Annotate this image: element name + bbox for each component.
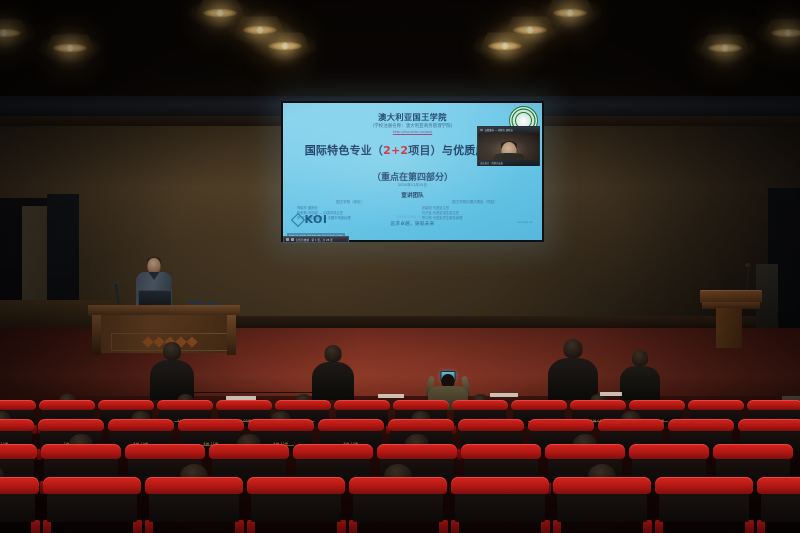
front-row-attendee bbox=[620, 366, 660, 400]
headline-part-1: 国际特色专业（ bbox=[305, 144, 383, 157]
light-core bbox=[0, 29, 9, 38]
previous-slide-icon[interactable] bbox=[286, 238, 289, 241]
front-row-attendee bbox=[548, 358, 598, 400]
seat-headrest bbox=[629, 400, 685, 410]
seat-armrest-right bbox=[235, 520, 243, 533]
slide-team-heading: 宣讲团队 bbox=[283, 191, 542, 199]
seat-headrest bbox=[0, 400, 36, 410]
seat-headrest bbox=[145, 477, 242, 495]
light-core bbox=[256, 26, 265, 35]
light-core bbox=[721, 44, 730, 53]
remote-speaker-body bbox=[494, 153, 524, 160]
seat-headrest bbox=[655, 477, 752, 495]
webcam-status-bar: 正在发言 · 音频已连接 bbox=[478, 160, 539, 166]
lectern-column bbox=[716, 308, 742, 348]
seat-headrest bbox=[318, 419, 385, 431]
audience-seat[interactable] bbox=[557, 484, 647, 533]
seat-headrest bbox=[668, 419, 735, 431]
team-column-left-heading: 国王学院（悉尼） bbox=[297, 200, 403, 205]
seat-headrest bbox=[629, 444, 709, 459]
seat-headrest bbox=[0, 419, 34, 431]
seat-headrest bbox=[388, 419, 455, 431]
audience-seat[interactable] bbox=[659, 484, 749, 533]
seat-armrest-left bbox=[451, 520, 459, 533]
seat-armrest-left bbox=[655, 520, 663, 533]
koi-logo: KOI bbox=[293, 213, 327, 226]
seat-armrest-right bbox=[337, 520, 345, 533]
seat-headrest bbox=[377, 444, 457, 459]
audience-seat[interactable] bbox=[251, 484, 341, 533]
light-core bbox=[784, 29, 793, 38]
seat-headrest bbox=[688, 400, 744, 410]
slide-org-name: 澳大利亚国王学院 bbox=[283, 111, 542, 123]
slideshow-status-label: 幻灯片放映 · 第 1 张，共 28 张 bbox=[296, 238, 333, 242]
seat-headrest bbox=[43, 477, 140, 495]
seat-armrest-right bbox=[541, 520, 549, 533]
seat-headrest bbox=[125, 444, 205, 459]
seat-headrest bbox=[108, 419, 175, 431]
light-core bbox=[526, 26, 535, 35]
slide-section-note: （重点在第四部分） bbox=[283, 170, 542, 183]
front-row-attendee-head bbox=[325, 345, 342, 362]
diamond-ornament-icon bbox=[142, 336, 153, 347]
desk-papers bbox=[490, 393, 518, 397]
front-row-attendee-head bbox=[632, 350, 648, 366]
seat-armrest-right bbox=[745, 520, 753, 533]
seat-headrest bbox=[713, 444, 793, 459]
diamond-ornament-icon bbox=[186, 336, 197, 347]
seat-armrest-right bbox=[133, 520, 141, 533]
seat-headrest bbox=[39, 400, 95, 410]
seat-headrest bbox=[0, 477, 39, 495]
seat-headrest bbox=[553, 477, 650, 495]
seat-headrest bbox=[293, 444, 373, 459]
webcam-video-feed bbox=[478, 133, 539, 160]
seat-headrest bbox=[248, 419, 315, 431]
seat-headrest bbox=[452, 400, 508, 410]
seat-headrest bbox=[738, 419, 800, 431]
projection-screen: 澳大利亚国王学院 （学校注册名称：澳大利亚商务管理学院） http://koi.… bbox=[281, 101, 544, 242]
audience-seat[interactable] bbox=[0, 484, 35, 533]
seat-headrest bbox=[216, 400, 272, 410]
seat-headrest bbox=[275, 400, 331, 410]
front-row-attendee bbox=[312, 362, 354, 400]
light-core bbox=[281, 42, 290, 51]
light-core bbox=[66, 44, 75, 53]
seat-headrest bbox=[349, 477, 446, 495]
seat-headrest bbox=[545, 444, 625, 459]
presentation-slide: 澳大利亚国王学院 （学校注册名称：澳大利亚商务管理学院） http://koi.… bbox=[283, 103, 542, 240]
diamond-icon bbox=[291, 212, 305, 226]
seat-headrest bbox=[41, 444, 121, 459]
seat-armrest-right bbox=[31, 520, 39, 533]
seat-headrest bbox=[178, 419, 245, 431]
audience-seat[interactable] bbox=[47, 484, 137, 533]
seat-armrest-right bbox=[439, 520, 447, 533]
seat-headrest bbox=[0, 444, 37, 459]
light-core bbox=[216, 9, 225, 18]
team-column-right-heading: 国王学院中国代表处（项目） bbox=[422, 200, 528, 205]
seat-headrest bbox=[747, 400, 800, 410]
slide-date: 2020年12月15日 bbox=[283, 183, 542, 188]
seat-headrest bbox=[528, 419, 595, 431]
lectern bbox=[700, 290, 762, 348]
seat-headrest bbox=[451, 477, 548, 495]
seat-headrest bbox=[38, 419, 105, 431]
seat-armrest-left bbox=[247, 520, 255, 533]
seat-armrest-right bbox=[643, 520, 651, 533]
seat-headrest bbox=[570, 400, 626, 410]
slide-footer-url: koi.edu.au bbox=[517, 220, 533, 225]
webcam-overlay-window[interactable]: 远程嘉宾 — 郑晓东 副院长 正在发言 · 音频已连接 bbox=[477, 126, 540, 166]
desk-leg-left bbox=[92, 315, 101, 355]
seat-headrest bbox=[461, 444, 541, 459]
microphone-icon bbox=[114, 281, 120, 284]
front-row-attendee-head bbox=[564, 339, 583, 358]
koi-logo-text: KOI bbox=[305, 213, 328, 226]
seat-armrest-left bbox=[43, 520, 51, 533]
seat-headrest bbox=[157, 400, 213, 410]
pen-icon[interactable] bbox=[291, 238, 294, 241]
seat-armrest-left bbox=[553, 520, 561, 533]
desk-leg-right bbox=[227, 315, 236, 355]
video-indicator-icon bbox=[480, 129, 483, 132]
auditorium-scene: 澳大利亚国王学院 （学校注册名称：澳大利亚商务管理学院） http://koi.… bbox=[0, 0, 800, 533]
seat-headrest bbox=[209, 444, 289, 459]
seat-headrest bbox=[458, 419, 525, 431]
slideshow-toolbar[interactable]: 幻灯片放映 · 第 1 张，共 28 张 bbox=[283, 236, 349, 243]
seat-headrest bbox=[98, 400, 154, 410]
seat-headrest bbox=[247, 477, 344, 495]
seat-headrest bbox=[757, 477, 800, 495]
seat-headrest bbox=[598, 419, 665, 431]
headline-highlight: 2+2 bbox=[383, 144, 408, 157]
audience-seat[interactable] bbox=[761, 484, 800, 533]
webcam-title: 远程嘉宾 — 郑晓东 副院长 bbox=[485, 128, 514, 132]
audience-seat[interactable] bbox=[353, 484, 443, 533]
light-core bbox=[566, 9, 575, 18]
audience-seat[interactable] bbox=[455, 484, 545, 533]
seat-headrest bbox=[334, 400, 390, 410]
audience-seat[interactable] bbox=[149, 484, 239, 533]
desk-papers bbox=[600, 392, 622, 396]
seat-armrest-left bbox=[349, 520, 357, 533]
desk-papers bbox=[378, 394, 404, 398]
seat-headrest bbox=[511, 400, 567, 410]
seat-headrest bbox=[393, 400, 449, 410]
seat-armrest-left bbox=[757, 520, 765, 533]
front-row-attendee-head bbox=[163, 342, 181, 360]
light-core bbox=[501, 42, 510, 51]
seat-armrest-left bbox=[145, 520, 153, 533]
